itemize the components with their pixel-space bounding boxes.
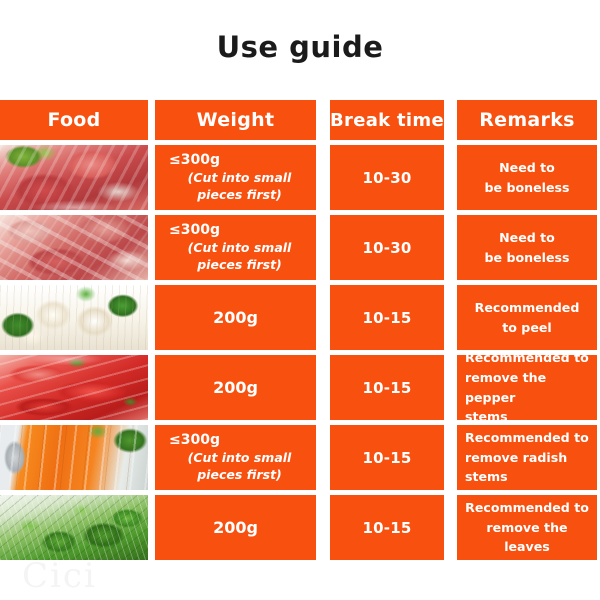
break-time-value: 10-30 — [363, 239, 412, 257]
remarks-line: stems — [457, 407, 597, 420]
remarks-line: to peel — [457, 318, 597, 338]
table-row: 200g10-15Recommendedto peel — [0, 285, 600, 350]
remarks-cell: Need tobe boneless — [457, 145, 597, 210]
remarks-line: Recommended to — [457, 355, 597, 368]
break-time-cell: 10-15 — [330, 355, 444, 420]
pork-photo — [0, 215, 148, 280]
remarks-line: stems — [457, 467, 597, 487]
remarks-line: remove radish — [457, 448, 597, 468]
food-photo-cell — [0, 495, 148, 560]
remarks-line: be boneless — [457, 178, 597, 198]
remarks-cell: Recommended toremove radishstems — [457, 425, 597, 490]
break-time-cell: 10-30 — [330, 215, 444, 280]
herb-photo — [0, 495, 148, 560]
remarks-line: remove the pepper — [457, 368, 597, 407]
remarks-line: Recommended to — [457, 498, 597, 518]
use-guide-table: Food Weight Break time Remarks ≤300g(Cut… — [0, 100, 600, 565]
weight-value: 200g — [213, 308, 258, 327]
break-time-value: 10-15 — [363, 309, 412, 327]
food-photo-art — [0, 285, 148, 350]
remarks-line: Recommended to — [457, 428, 597, 448]
food-photo-cell — [0, 145, 148, 210]
weight-note: (Cut into small pieces first) — [163, 240, 316, 274]
food-photo-cell — [0, 285, 148, 350]
table-row: 200g10-15Recommended toremove the pepper… — [0, 355, 600, 420]
weight-cell: ≤300g(Cut into small pieces first) — [155, 425, 316, 490]
remarks-cell: Recommended toremove the leaves — [457, 495, 597, 560]
weight-cell: 200g — [155, 495, 316, 560]
garlic-photo — [0, 285, 148, 350]
remarks-line: be boneless — [457, 248, 597, 268]
food-photo-cell — [0, 425, 148, 490]
column-header-remarks: Remarks — [457, 100, 597, 140]
break-time-value: 10-30 — [363, 169, 412, 187]
watermark: Cici — [22, 556, 97, 596]
pepper-photo — [0, 355, 148, 420]
column-header-food: Food — [0, 100, 148, 140]
break-time-value: 10-15 — [363, 449, 412, 467]
break-time-cell: 10-15 — [330, 425, 444, 490]
remarks-cell: Recommendedto peel — [457, 285, 597, 350]
weight-cell: ≤300g(Cut into small pieces first) — [155, 215, 316, 280]
remarks-line: remove the leaves — [457, 518, 597, 557]
break-time-cell: 10-30 — [330, 145, 444, 210]
break-time-cell: 10-15 — [330, 285, 444, 350]
break-time-value: 10-15 — [363, 379, 412, 397]
weight-value: ≤300g — [169, 431, 220, 450]
break-time-cell: 10-15 — [330, 495, 444, 560]
remarks-line: Need to — [457, 158, 597, 178]
food-photo-art — [0, 425, 148, 490]
weight-note: (Cut into small pieces first) — [163, 170, 316, 204]
food-photo-art — [0, 145, 148, 210]
table-header-row: Food Weight Break time Remarks — [0, 100, 600, 140]
remarks-line: Need to — [457, 228, 597, 248]
weight-cell: 200g — [155, 285, 316, 350]
weight-value: 200g — [213, 518, 258, 537]
food-photo-art — [0, 215, 148, 280]
beef-photo — [0, 145, 148, 210]
weight-note: (Cut into small pieces first) — [163, 450, 316, 484]
use-guide-page: Use guide Food Weight Break time Remarks… — [0, 0, 600, 600]
column-header-weight: Weight — [155, 100, 316, 140]
weight-cell: ≤300g(Cut into small pieces first) — [155, 145, 316, 210]
table-row: 200g10-15Recommended toremove the leaves — [0, 495, 600, 560]
page-title: Use guide — [0, 30, 600, 64]
table-row: ≤300g(Cut into small pieces first)10-15R… — [0, 425, 600, 490]
food-photo-art — [0, 355, 148, 420]
food-photo-cell — [0, 355, 148, 420]
remarks-cell: Recommended toremove the pepperstems — [457, 355, 597, 420]
weight-value: 200g — [213, 378, 258, 397]
weight-value: ≤300g — [169, 151, 220, 170]
table-row: ≤300g(Cut into small pieces first)10-30N… — [0, 145, 600, 210]
column-header-break-time: Break time — [330, 100, 444, 140]
food-photo-art — [0, 495, 148, 560]
carrot-photo — [0, 425, 148, 490]
table-row: ≤300g(Cut into small pieces first)10-30N… — [0, 215, 600, 280]
remarks-cell: Need tobe boneless — [457, 215, 597, 280]
weight-cell: 200g — [155, 355, 316, 420]
weight-value: ≤300g — [169, 221, 220, 240]
table-body: ≤300g(Cut into small pieces first)10-30N… — [0, 145, 600, 560]
remarks-line: Recommended — [457, 298, 597, 318]
break-time-value: 10-15 — [363, 519, 412, 537]
food-photo-cell — [0, 215, 148, 280]
